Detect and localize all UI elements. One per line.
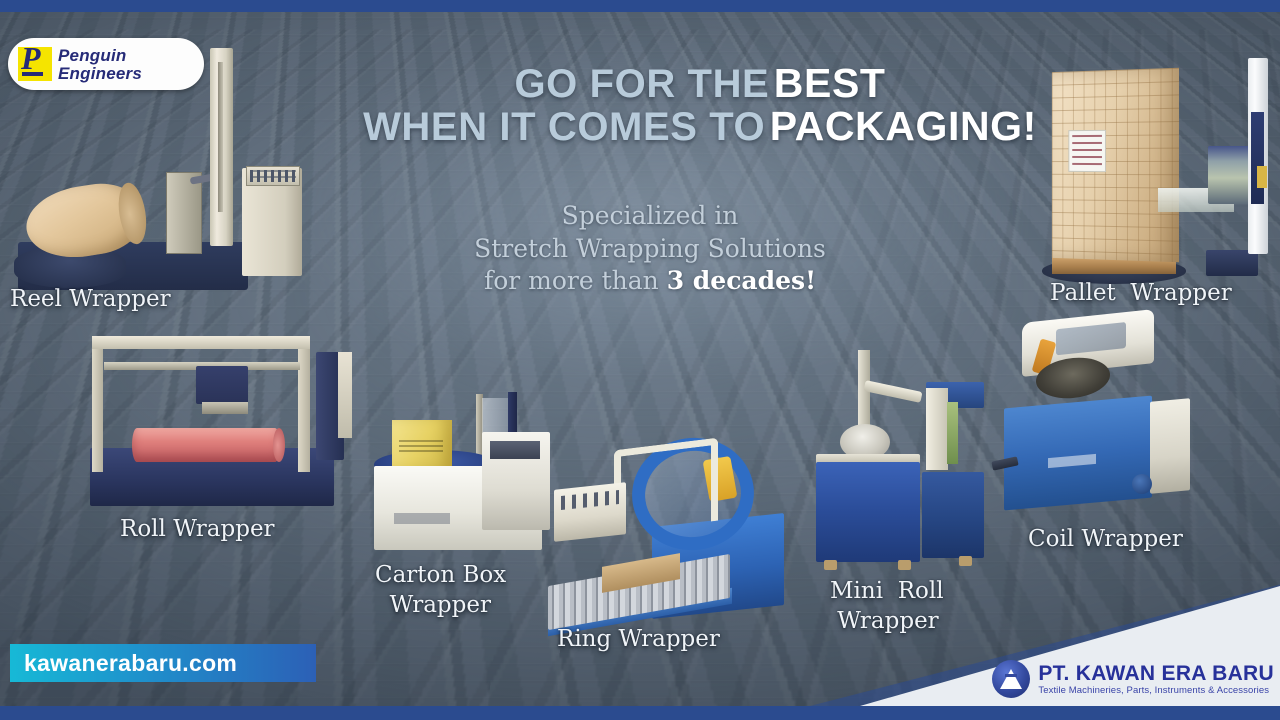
headline-line1-soft: GO FOR THE bbox=[514, 62, 769, 106]
website-url-text: kawanerabaru.com bbox=[24, 650, 237, 677]
penguin-logo-wordmark: Penguin Engineers bbox=[58, 47, 142, 82]
kawan-era-baru-wordmark: PT. KAWAN ERA BARU Textile Machineries, … bbox=[1038, 662, 1274, 697]
reel-mast-column bbox=[210, 48, 233, 246]
subheadline-line-3: for more than 3 decades! bbox=[390, 265, 910, 298]
subheadline-line3-accent: 3 decades! bbox=[667, 266, 816, 295]
penguin-logo-line2: Engineers bbox=[58, 65, 142, 82]
penguin-engineers-logo: P Penguin Engineers bbox=[8, 38, 204, 90]
company-tagline: Textile Machineries, Parts, Instruments … bbox=[1038, 686, 1274, 696]
bottom-accent-bar bbox=[0, 706, 1280, 720]
kawan-era-baru-logo: PT. KAWAN ERA BARU Textile Machineries, … bbox=[992, 660, 1274, 698]
headline-line-2: WHEN IT COMES TO PACKAGING! bbox=[330, 105, 1070, 148]
mini-side-cabinet bbox=[922, 472, 984, 558]
machine-ring-wrapper bbox=[548, 424, 792, 620]
roll-film-product bbox=[132, 428, 280, 462]
reel-post bbox=[166, 172, 202, 254]
subheadline: Specialized in Stretch Wrapping Solution… bbox=[390, 200, 910, 298]
top-accent-bar bbox=[0, 0, 1280, 12]
machine-coil-wrapper bbox=[992, 312, 1196, 520]
penguin-logo-line1: Penguin bbox=[58, 47, 142, 64]
headline-line2-soft: WHEN IT COMES TO bbox=[363, 105, 765, 149]
headline-line-1: GO FOR THE BEST bbox=[330, 62, 1070, 105]
mini-column bbox=[926, 388, 948, 470]
roll-control-panel bbox=[338, 352, 352, 438]
reel-control-panel bbox=[246, 166, 300, 186]
kawan-era-baru-logo-mark bbox=[992, 660, 1030, 698]
headline-line1-strong: BEST bbox=[774, 60, 886, 106]
machine-mini-roll-wrapper bbox=[812, 344, 988, 570]
roll-left-column bbox=[92, 340, 103, 472]
roll-right-column bbox=[298, 340, 310, 472]
label-ring-wrapper: Ring Wrapper bbox=[557, 624, 720, 654]
website-badge[interactable]: kawanerabaru.com bbox=[10, 644, 316, 682]
penguin-logo-mark: P bbox=[18, 47, 52, 81]
roll-wrapping-head bbox=[196, 366, 248, 404]
mini-foot-right bbox=[959, 556, 972, 566]
pallet-tower-panel bbox=[1251, 112, 1264, 204]
penguin-logo-bar bbox=[22, 72, 43, 76]
ring-guard-frame bbox=[614, 438, 718, 534]
headline-line2-strong: PACKAGING! bbox=[770, 103, 1037, 149]
machine-roll-wrapper bbox=[84, 322, 352, 510]
pallet-shipping-label bbox=[1068, 130, 1106, 172]
label-reel-wrapper: Reel Wrapper bbox=[10, 284, 171, 314]
pallet-tower-indicator bbox=[1257, 166, 1267, 188]
company-name: PT. KAWAN ERA BARU bbox=[1038, 662, 1274, 685]
coil-side-cabinet bbox=[1150, 398, 1190, 493]
penguin-logo-letter: P bbox=[21, 42, 41, 74]
machine-carton-box-wrapper bbox=[372, 392, 556, 550]
mini-cylinder bbox=[947, 402, 958, 464]
subheadline-line-1: Specialized in bbox=[390, 200, 910, 233]
label-coil-wrapper: Coil Wrapper bbox=[1028, 524, 1183, 554]
label-carton-box-wrapper: Carton Box Wrapper bbox=[375, 560, 506, 621]
promotional-banner: P Penguin Engineers GO FOR THE BEST WHEN… bbox=[0, 0, 1280, 720]
subheadline-line-2: Stretch Wrapping Solutions bbox=[390, 233, 910, 266]
headline: GO FOR THE BEST WHEN IT COMES TO PACKAGI… bbox=[330, 62, 1070, 149]
carton-control-console bbox=[482, 432, 550, 530]
pallet-film-carriage bbox=[1208, 146, 1250, 204]
mini-foot-left bbox=[824, 560, 837, 570]
mini-foot-center bbox=[898, 560, 911, 570]
ring-control-box bbox=[554, 482, 626, 542]
subheadline-line3-prefix: for more than bbox=[484, 266, 667, 295]
coil-handwheel bbox=[1132, 474, 1152, 494]
roll-top-beam bbox=[92, 336, 310, 349]
carton-brand-plate bbox=[394, 513, 450, 524]
label-pallet-wrapper: Pallet Wrapper bbox=[1050, 278, 1232, 308]
mini-arm bbox=[863, 380, 922, 403]
label-mini-roll-wrapper: Mini Roll Wrapper bbox=[830, 576, 944, 637]
coil-machine-body bbox=[1004, 396, 1152, 511]
mini-main-cabinet bbox=[816, 462, 920, 562]
label-roll-wrapper: Roll Wrapper bbox=[120, 514, 275, 544]
